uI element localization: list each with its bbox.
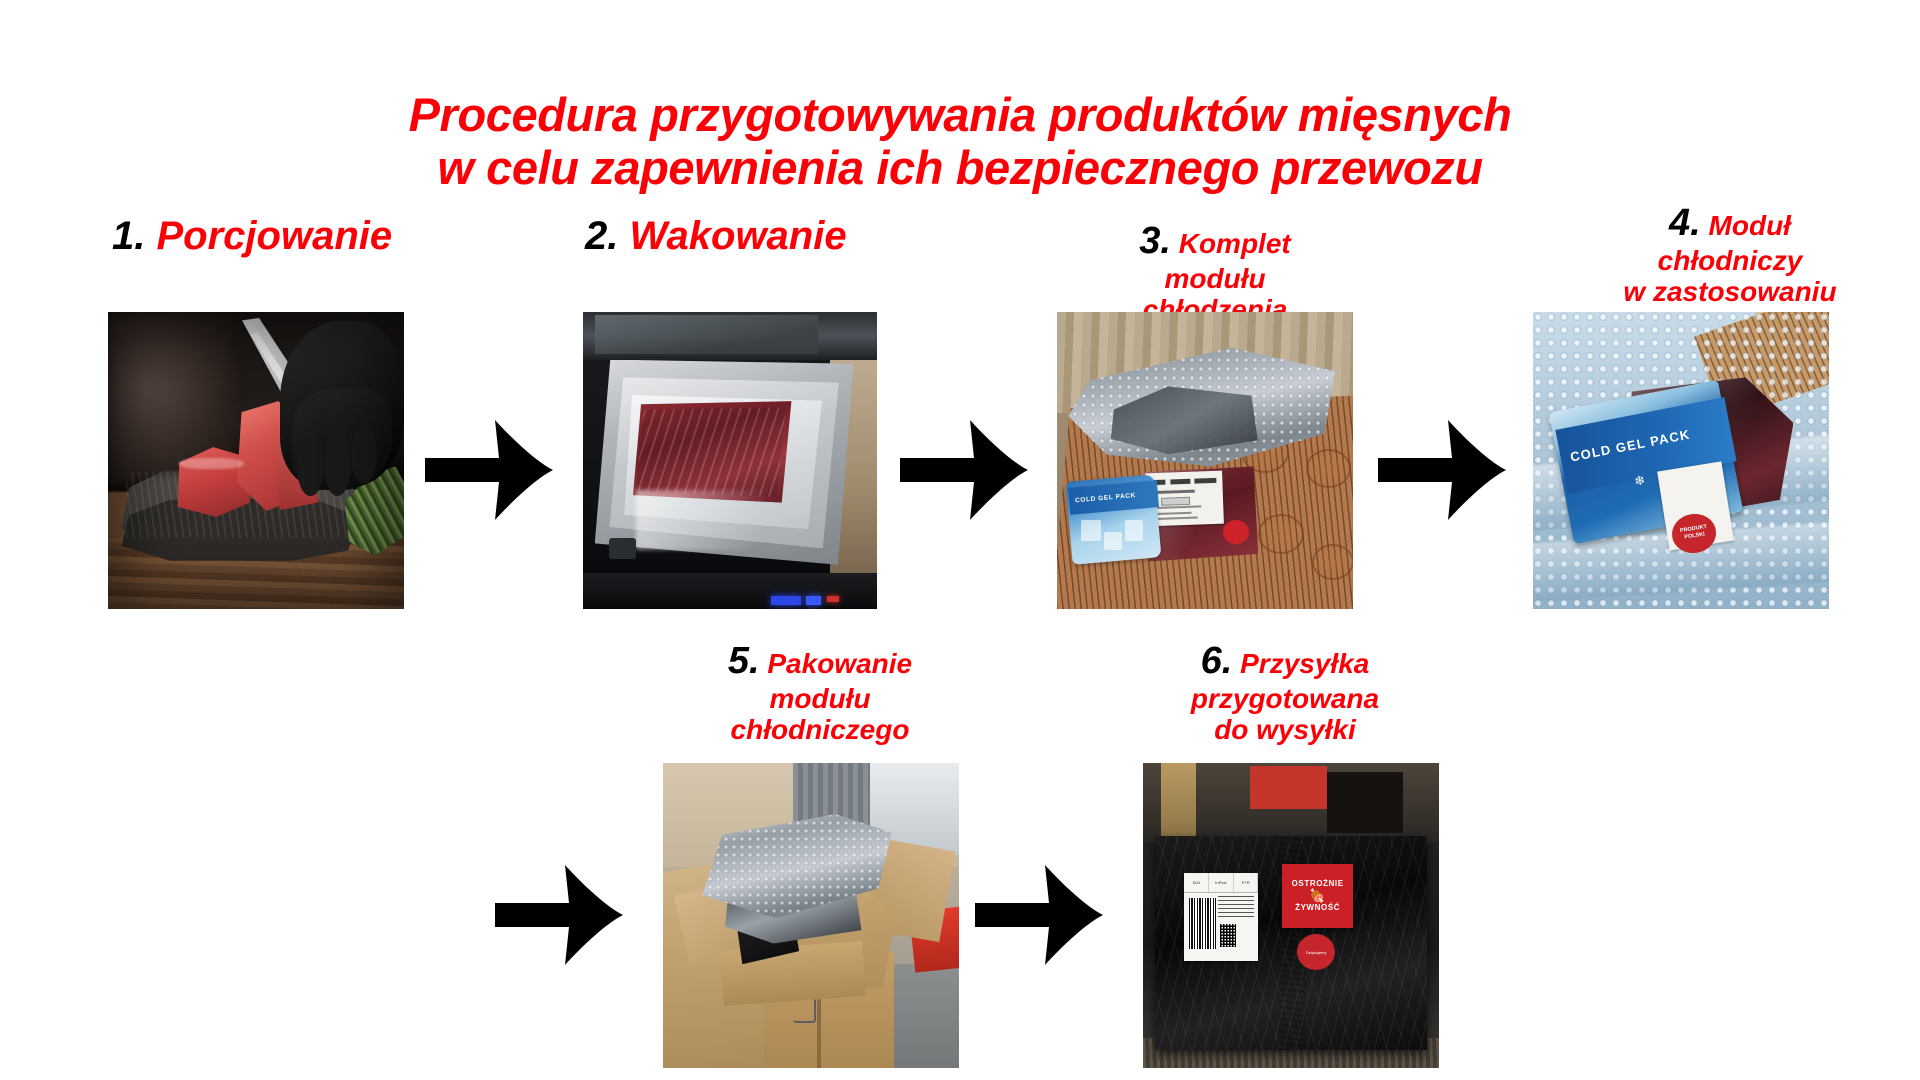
label-mark-3 <box>1194 479 1216 485</box>
step-6-caption: 6. Przysyłka przygotowana do wysyłki <box>1155 640 1415 745</box>
photo-vignette <box>108 312 404 609</box>
mat-logo-stamp-4 <box>1312 544 1353 581</box>
step-5-photo-scene <box>663 763 959 1068</box>
step-5-number: 5. <box>728 640 760 682</box>
shipping-label-cell-1: D04 <box>1184 873 1209 892</box>
produkt-polski-seal <box>1223 520 1250 544</box>
step-2-label: Wakowanie <box>629 214 846 258</box>
step-5-line-1: 5. Pakowanie <box>690 640 950 683</box>
step-3-label-line-1: Komplet <box>1179 228 1291 259</box>
meat-icon: 🍖 <box>1309 889 1326 902</box>
step-6-line-1: 6. Przysyłka <box>1155 640 1415 683</box>
step-4-number: 4. <box>1669 202 1701 244</box>
shipping-label-cell-3: PTR <box>1234 873 1259 892</box>
fragile-food-sticker-top-text: OSTROŻNIE <box>1292 879 1344 888</box>
shipping-label: D04 InPost PTR <box>1184 873 1258 961</box>
step-6-label-line-3: do wysyłki <box>1155 714 1415 745</box>
step-5-caption: 5. Pakowanie modułu chłodniczego <box>690 640 950 745</box>
step-1-number: 1. <box>112 214 145 258</box>
step-3-label-line-2: modułu <box>1085 263 1345 294</box>
step-6-label-line-1: Przysyłka <box>1240 648 1369 679</box>
step-3-photo: COLD GEL PACK <box>1057 312 1353 609</box>
step-5-label-line-3: chłodniczego <box>690 714 950 745</box>
step-6-number: 6. <box>1201 640 1233 682</box>
step-2-caption: 2. Wakowanie <box>585 214 847 259</box>
step-5-photo <box>663 763 959 1068</box>
shipping-label-cell-2: InPost <box>1209 873 1234 892</box>
ice-cube-graphic-2 <box>1104 532 1122 550</box>
meat-surface-texture <box>636 407 789 502</box>
step-6-label-line-2: przygotowana <box>1155 683 1415 714</box>
step-2-photo-scene <box>583 312 877 609</box>
step-4-label-line-3: w zastosowaniu <box>1600 276 1860 307</box>
step-5-label-line-2: modułu <box>690 683 950 714</box>
arrow-step-3-to-4 <box>1378 420 1508 520</box>
machine-base <box>583 573 877 609</box>
step-1-label: Porcjowanie <box>156 214 392 258</box>
arrow-step-1-to-2 <box>425 420 555 520</box>
step-3-number: 3. <box>1139 220 1171 262</box>
mat-logo-stamp-3 <box>1258 514 1303 554</box>
label-text-line-4 <box>1153 517 1198 521</box>
label-text-line-3 <box>1152 512 1191 515</box>
label-value-box <box>1161 497 1189 506</box>
vacuum-sealer-lid-window <box>595 315 818 354</box>
control-panel-led-blue-2 <box>806 596 821 605</box>
step-6-photo: D04 InPost PTR OSTROŻNIE 🍖 ŻYWNOŚĆ Dzięk… <box>1143 763 1439 1068</box>
background-red-panel <box>1250 766 1327 809</box>
step-2-photo <box>583 312 877 609</box>
background-tan-panel <box>1161 763 1197 842</box>
page-title-line-2: w celu zapewnienia ich bezpiecznego prze… <box>0 141 1920 194</box>
arrow-step-2-to-3 <box>900 420 1030 520</box>
qr-code <box>1220 924 1236 947</box>
control-panel-led-blue <box>771 596 800 605</box>
label-mark-2 <box>1170 480 1190 485</box>
step-1-photo <box>108 312 404 609</box>
ice-cube-graphic-3 <box>1125 520 1143 541</box>
fragile-food-sticker-bottom-text: ŻYWNOŚĆ <box>1295 903 1340 912</box>
step-4-line-1: 4. Moduł <box>1600 202 1860 245</box>
step-3-caption: 3. Komplet modułu chłodzenia <box>1085 220 1345 325</box>
bag-plastic-shine <box>636 490 818 549</box>
step-1-caption: 1. Porcjowanie <box>112 214 392 259</box>
mat-logo-stamp-2 <box>1306 449 1351 489</box>
arrow-step-5-to-6 <box>975 865 1105 965</box>
shipping-address-text <box>1218 896 1254 919</box>
step-1-photo-scene <box>108 312 404 609</box>
step-4-photo: COLD GEL PACK ❄ PRODUKT POLSKI <box>1533 312 1829 609</box>
label-text-line-2 <box>1152 506 1201 510</box>
thank-you-sticker-text: Dziękujemy <box>1306 950 1327 955</box>
step-5-label-line-1: Pakowanie <box>767 648 912 679</box>
page-title-line-1: Procedura przygotowywania produktów mięs… <box>0 88 1920 141</box>
ice-cube-graphic-1 <box>1081 520 1102 541</box>
barcode <box>1189 898 1216 949</box>
background-dark-panel <box>1327 772 1404 833</box>
step-4-photo-scene: COLD GEL PACK ❄ PRODUKT POLSKI <box>1533 312 1829 609</box>
control-panel-led-red <box>827 596 839 602</box>
arrow-step-4-to-5 <box>495 865 625 965</box>
step-6-photo-scene: D04 InPost PTR OSTROŻNIE 🍖 ŻYWNOŚĆ Dzięk… <box>1143 763 1439 1068</box>
step-4-caption: 4. Moduł chłodniczy w zastosowaniu <box>1600 202 1860 307</box>
shipping-label-header: D04 InPost PTR <box>1184 873 1258 893</box>
step-3-line-1: 3. Komplet <box>1085 220 1345 263</box>
chamber-hinge <box>609 538 635 559</box>
step-3-photo-scene: COLD GEL PACK <box>1057 312 1353 609</box>
step-4-label-line-2: chłodniczy <box>1600 245 1860 276</box>
label-text-line-1 <box>1152 490 1195 494</box>
step-4-label-line-1: Moduł <box>1709 210 1791 241</box>
page-title: Procedura przygotowywania produktów mięs… <box>0 88 1920 194</box>
step-2-number: 2. <box>585 214 618 258</box>
fragile-food-sticker: OSTROŻNIE 🍖 ŻYWNOŚĆ <box>1282 864 1353 928</box>
